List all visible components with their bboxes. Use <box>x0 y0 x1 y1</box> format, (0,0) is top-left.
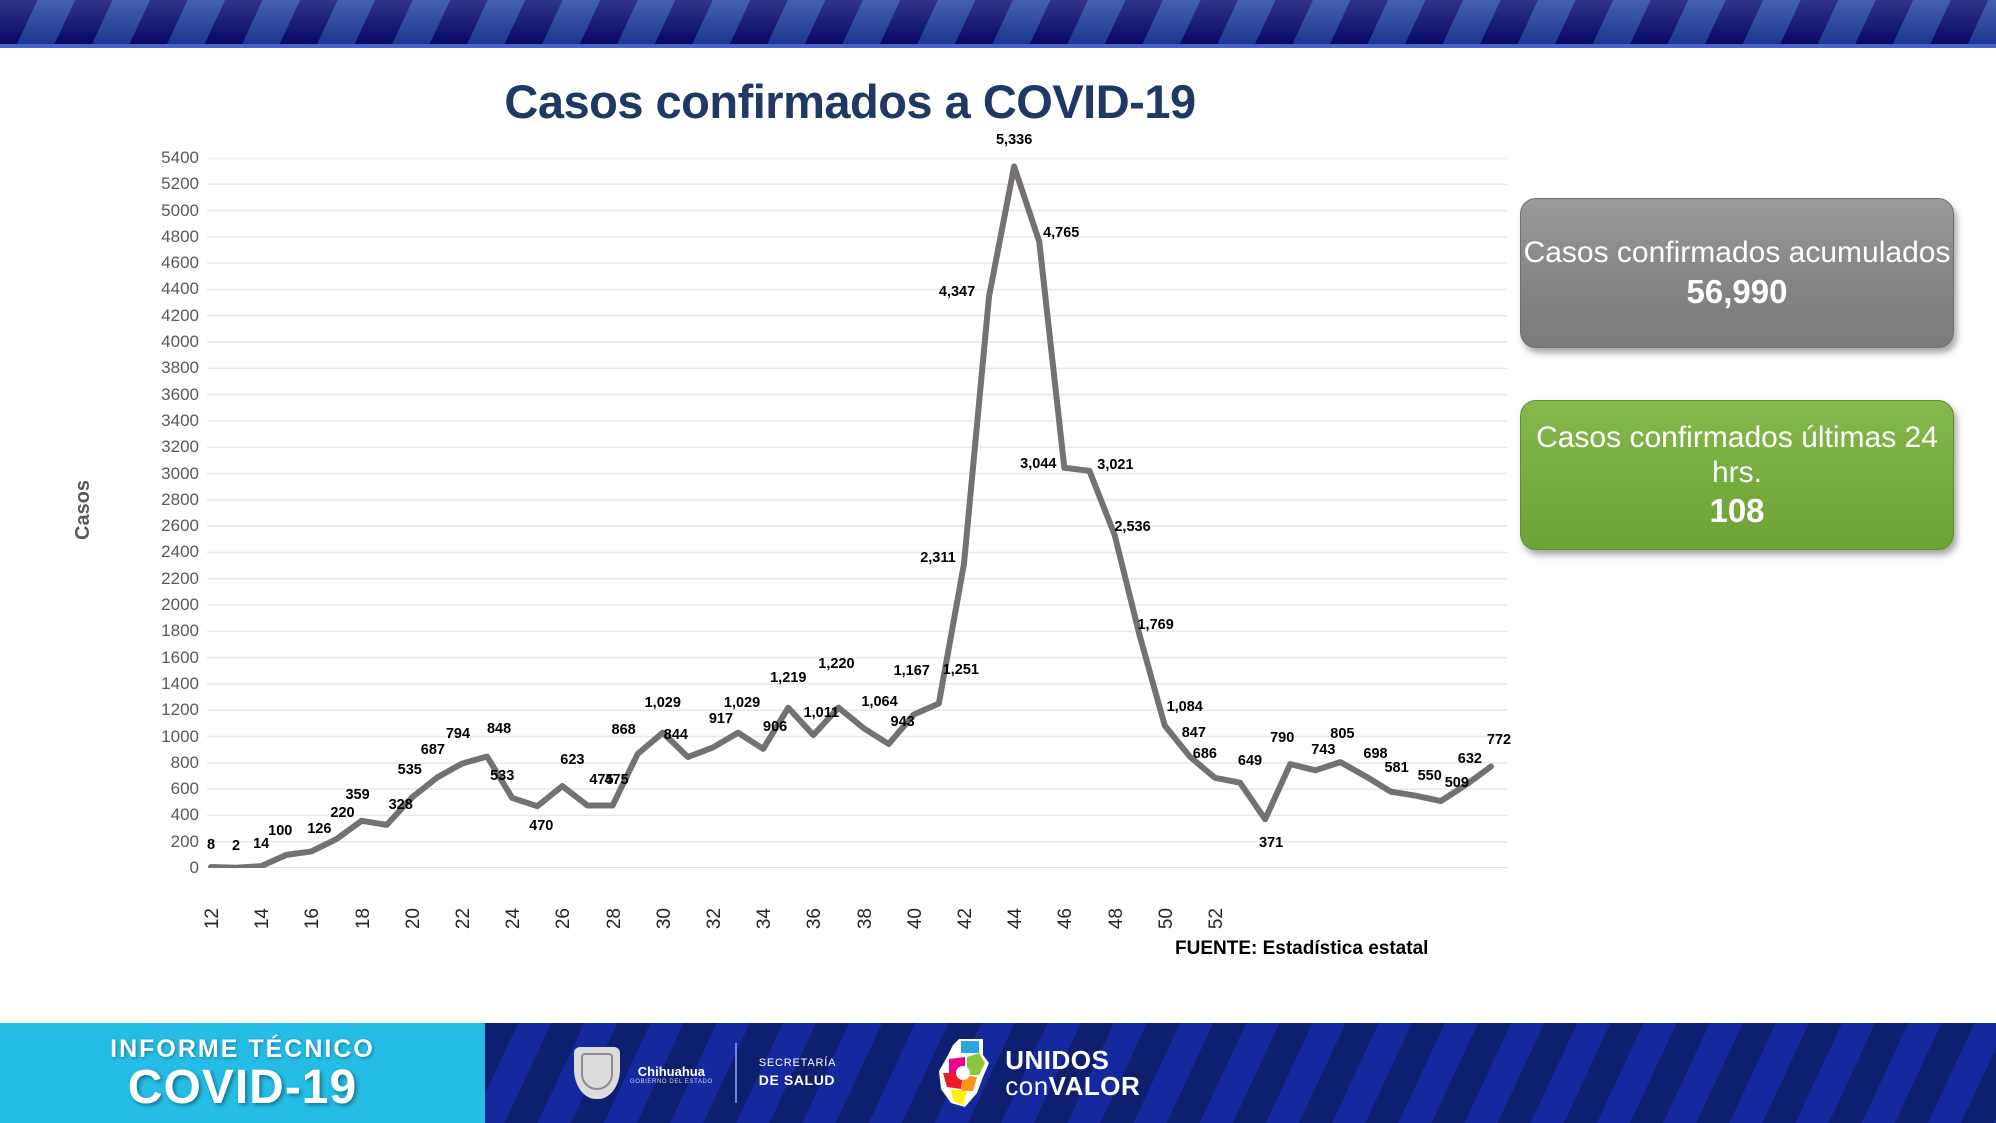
x-axis-tick: 40 <box>905 908 927 929</box>
data-label: 14 <box>253 836 269 852</box>
logo-divider <box>735 1043 737 1103</box>
data-label: 632 <box>1458 751 1482 767</box>
data-label: 805 <box>1330 726 1354 742</box>
data-label: 686 <box>1193 746 1217 762</box>
data-label: 1,029 <box>724 695 760 711</box>
data-label: 772 <box>1487 732 1511 748</box>
data-label: 100 <box>268 823 292 839</box>
x-axis-tick: 28 <box>604 908 626 929</box>
data-label: 2 <box>232 838 240 854</box>
data-label: 1,769 <box>1137 617 1173 633</box>
informe-tecnico-line1: INFORME TÉCNICO <box>110 1035 375 1064</box>
data-label: 1,011 <box>804 705 840 721</box>
y-axis-tick: 5200 <box>161 174 199 194</box>
x-axis-tick: 36 <box>804 908 826 929</box>
data-label: 470 <box>529 818 553 834</box>
y-axis-tick: 1800 <box>161 621 199 641</box>
top-banner-sheen <box>0 0 1996 46</box>
x-axis-tick: 26 <box>553 908 575 929</box>
x-axis-tick: 12 <box>202 908 224 929</box>
data-label: 1,251 <box>943 662 979 678</box>
x-axis-tick: 20 <box>403 908 425 929</box>
data-label: 790 <box>1270 730 1294 746</box>
data-label: 917 <box>709 711 733 727</box>
x-axis-tick: 34 <box>754 908 776 929</box>
stat-card-accumulated[interactable]: Casos confirmados acumulados 56,990 <box>1520 198 1954 348</box>
data-label: 220 <box>330 805 354 821</box>
data-label: 623 <box>560 752 584 768</box>
y-axis-tick: 2000 <box>161 595 199 615</box>
secretaria-salud-label: SECRETARÍA DE SALUD <box>759 1056 836 1090</box>
secretaria-line2: DE SALUD <box>759 1071 836 1090</box>
data-label: 3,044 <box>1020 456 1056 472</box>
x-axis-tick: 42 <box>955 908 977 929</box>
y-axis-tick: 1600 <box>161 648 199 668</box>
source-note: FUENTE: Estadística estatal <box>1175 938 1428 960</box>
data-label: 1,220 <box>818 656 854 672</box>
data-label: 1,029 <box>645 695 681 711</box>
stat-card-last24h-value: 108 <box>1709 492 1764 530</box>
data-label: 371 <box>1259 835 1283 851</box>
data-label: 581 <box>1384 760 1408 776</box>
chihuahua-logo: Chihuahua GOBIERNO DEL ESTADO SECRETARÍA… <box>570 1041 836 1105</box>
data-label: 743 <box>1311 742 1335 758</box>
slide-root: Casos confirmados a COVID-19 Casos Seman… <box>0 0 1996 1123</box>
y-axis-tick: 4000 <box>161 332 199 352</box>
data-label: 126 <box>307 821 331 837</box>
x-axis-tick: 46 <box>1055 908 1077 929</box>
data-label: 844 <box>664 727 688 743</box>
unidos-con-valor-logo: UNIDOS conVALOR <box>931 1037 1140 1109</box>
informe-tecnico-badge: INFORME TÉCNICO COVID-19 <box>0 1023 485 1123</box>
data-label: 2,536 <box>1114 519 1150 535</box>
x-axis-tick: 16 <box>302 908 324 929</box>
x-axis-tick: 50 <box>1156 908 1178 929</box>
y-axis-tick: 600 <box>171 779 199 799</box>
data-label: 2,311 <box>920 550 956 566</box>
data-label: 1,219 <box>770 670 806 686</box>
data-label: 649 <box>1238 753 1262 769</box>
x-axis-tick: 52 <box>1206 908 1228 929</box>
bottom-banner-right: Chihuahua GOBIERNO DEL ESTADO SECRETARÍA… <box>485 1023 1996 1123</box>
page-title: Casos confirmados a COVID-19 <box>300 74 1400 129</box>
data-label: 328 <box>389 797 413 813</box>
y-axis-tick: 5400 <box>161 148 199 168</box>
y-axis-tick: 4200 <box>161 306 199 326</box>
y-axis-tick: 2200 <box>161 569 199 589</box>
data-label: 847 <box>1182 725 1206 741</box>
y-axis-tick: 3600 <box>161 385 199 405</box>
x-axis-tick: 30 <box>654 908 676 929</box>
data-label: 5,336 <box>996 132 1032 148</box>
data-label: 794 <box>446 726 470 742</box>
x-axis-tick: 14 <box>252 908 274 929</box>
y-axis-tick: 2800 <box>161 490 199 510</box>
data-label: 868 <box>612 722 636 738</box>
informe-tecnico-line2: COVID-19 <box>128 1064 357 1112</box>
top-banner <box>0 0 1996 46</box>
x-axis-tick: 44 <box>1005 908 1027 929</box>
y-axis-tick: 0 <box>190 858 199 878</box>
y-axis-tick: 1400 <box>161 674 199 694</box>
data-label: 535 <box>398 762 422 778</box>
data-label: 550 <box>1418 768 1442 784</box>
x-axis-tick: 32 <box>704 908 726 929</box>
y-axis-tick: 2600 <box>161 516 199 536</box>
stat-card-accumulated-value: 56,990 <box>1687 273 1788 311</box>
data-label: 1,064 <box>861 694 897 710</box>
secretaria-line1: SECRETARÍA <box>759 1056 836 1071</box>
unidos-line1: UNIDOS <box>1005 1047 1140 1073</box>
y-axis-tick: 3200 <box>161 437 199 457</box>
data-label: 687 <box>421 742 445 758</box>
shield-icon <box>570 1041 624 1105</box>
top-banner-edge <box>0 44 1996 48</box>
data-label: 8 <box>207 837 215 853</box>
stat-card-last24h[interactable]: Casos confirmados últimas 24 hrs. 108 <box>1520 400 1954 550</box>
y-axis-tick: 1200 <box>161 700 199 720</box>
data-label: 906 <box>763 719 787 735</box>
data-label: 359 <box>345 787 369 803</box>
y-axis-title: Casos <box>72 480 95 540</box>
unidos-valor: VALOR <box>1049 1071 1141 1101</box>
x-axis-tick: 22 <box>453 908 475 929</box>
x-axis-tick: 48 <box>1106 908 1128 929</box>
unidos-con: con <box>1005 1071 1048 1101</box>
y-axis-tick: 3000 <box>161 464 199 484</box>
shield-subtitle: GOBIERNO DEL ESTADO <box>630 1079 713 1085</box>
unidos-line2: conVALOR <box>1005 1073 1140 1099</box>
data-label: 3,021 <box>1097 457 1133 473</box>
data-label: 4,765 <box>1043 225 1079 241</box>
x-axis-tick: 18 <box>353 908 375 929</box>
y-axis-tick: 2400 <box>161 542 199 562</box>
stat-card-accumulated-label: Casos confirmados acumulados <box>1524 235 1951 270</box>
data-label: 943 <box>891 714 915 730</box>
y-axis-tick: 1000 <box>161 727 199 747</box>
x-axis-tick: 38 <box>855 908 877 929</box>
y-axis-tick: 200 <box>171 832 199 852</box>
unidos-con-valor-text: UNIDOS conVALOR <box>1005 1047 1140 1099</box>
data-label: 1,084 <box>1167 699 1203 715</box>
y-axis-tick: 3400 <box>161 411 199 431</box>
x-axis-tick: 24 <box>503 908 525 929</box>
chihuahua-map-icon <box>931 1037 995 1109</box>
data-label: 1,167 <box>894 663 930 679</box>
bottom-banner: INFORME TÉCNICO COVID-19 Chihuahua GOBIE… <box>0 1023 1996 1123</box>
plot-area: 0200400600800100012001400160018002000220… <box>207 158 1507 868</box>
y-axis-tick: 4600 <box>161 253 199 273</box>
data-label: 509 <box>1445 775 1469 791</box>
y-axis-tick: 400 <box>171 805 199 825</box>
y-axis-tick: 4400 <box>161 279 199 299</box>
data-label: 533 <box>490 768 514 784</box>
y-axis-tick: 5000 <box>161 201 199 221</box>
data-label: 475 <box>604 772 628 788</box>
data-label: 848 <box>487 721 511 737</box>
stat-card-last24h-label: Casos confirmados últimas 24 hrs. <box>1521 420 1953 491</box>
y-axis-tick: 800 <box>171 753 199 773</box>
y-axis-tick: 4800 <box>161 227 199 247</box>
y-axis-tick: 3800 <box>161 358 199 378</box>
shield-title: Chihuahua <box>630 1064 713 1079</box>
chart-container: Casos Semanas 02004006008001000120014001… <box>60 140 1480 900</box>
data-label: 4,347 <box>939 284 975 300</box>
